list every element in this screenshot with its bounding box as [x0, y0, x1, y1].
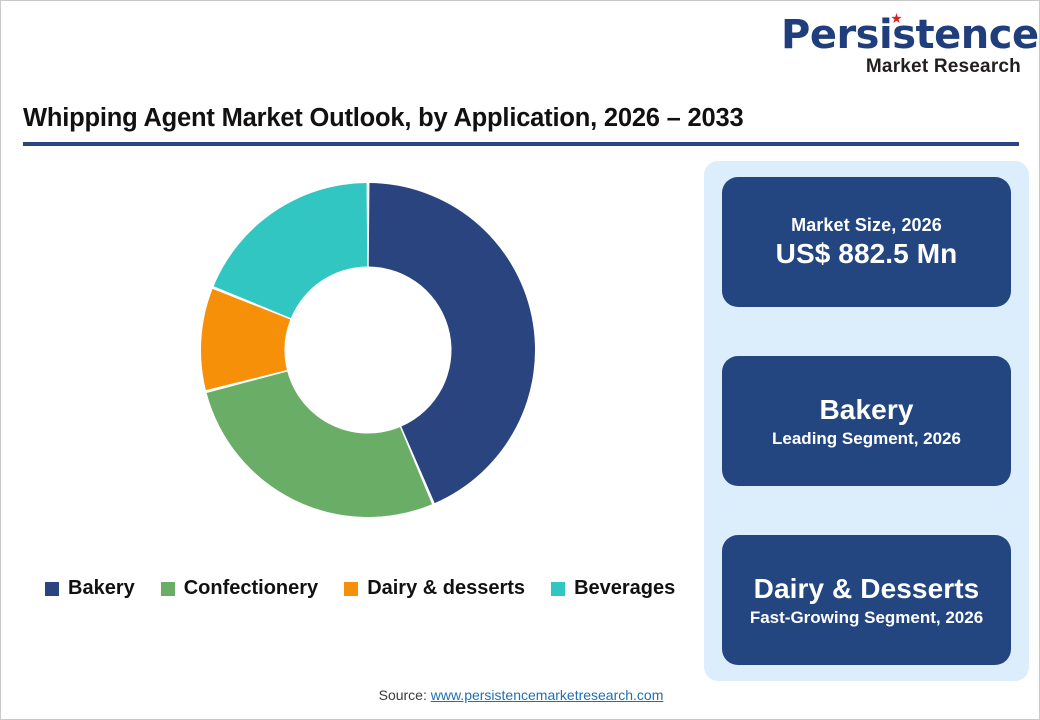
stat-card-fast-growing-segment: Dairy & Desserts Fast-Growing Segment, 2…	[722, 535, 1011, 665]
leading-segment-value: Bakery	[819, 394, 913, 426]
infographic-page: Persistence Market Research Whipping Age…	[0, 0, 1040, 720]
brand-tagline-text: Market Research	[781, 57, 1021, 76]
key-stats-panel: Market Size, 2026 US$ 882.5 Mn Bakery Le…	[704, 161, 1029, 681]
legend-label-bakery: Bakery	[68, 577, 135, 600]
legend-item-beverages: Beverages	[551, 577, 675, 600]
title-block: Whipping Agent Market Outlook, by Applic…	[23, 104, 1019, 146]
legend-swatch-bakery	[45, 582, 59, 596]
market-size-label: Market Size, 2026	[791, 215, 942, 236]
legend-swatch-beverages	[551, 582, 565, 596]
brand-name-text: Persistence	[781, 15, 1039, 55]
legend-label-beverages: Beverages	[574, 577, 675, 600]
chart-container	[21, 161, 691, 561]
fast-growing-segment-label: Fast-Growing Segment, 2026	[750, 608, 983, 628]
leading-segment-label: Leading Segment, 2026	[772, 429, 961, 449]
source-line: Source: www.persistencemarketresearch.co…	[1, 687, 1040, 703]
legend-item-bakery: Bakery	[45, 577, 135, 600]
legend-item-confectionery: Confectionery	[161, 577, 318, 600]
fast-growing-segment-value: Dairy & Desserts	[754, 573, 980, 605]
stat-card-market-size: Market Size, 2026 US$ 882.5 Mn	[722, 177, 1011, 307]
page-title: Whipping Agent Market Outlook, by Applic…	[23, 104, 1019, 133]
source-prefix: Source:	[379, 687, 431, 703]
donut-slices	[201, 183, 535, 517]
legend-swatch-dairy-desserts	[344, 582, 358, 596]
chart-legend: Bakery Confectionery Dairy & desserts Be…	[45, 577, 675, 600]
legend-label-dairy-desserts: Dairy & desserts	[367, 577, 525, 600]
legend-swatch-confectionery	[161, 582, 175, 596]
legend-label-confectionery: Confectionery	[184, 577, 318, 600]
source-link[interactable]: www.persistencemarketresearch.com	[431, 687, 664, 703]
title-divider	[23, 142, 1019, 146]
market-size-value: US$ 882.5 Mn	[776, 238, 958, 270]
company-logo: Persistence Market Research	[781, 15, 1021, 76]
legend-item-dairy-desserts: Dairy & desserts	[344, 577, 525, 600]
stat-card-leading-segment: Bakery Leading Segment, 2026	[722, 356, 1011, 486]
donut-slice-confectionery	[207, 371, 432, 517]
donut-slice-beverages	[214, 183, 368, 318]
donut-chart	[200, 182, 536, 518]
